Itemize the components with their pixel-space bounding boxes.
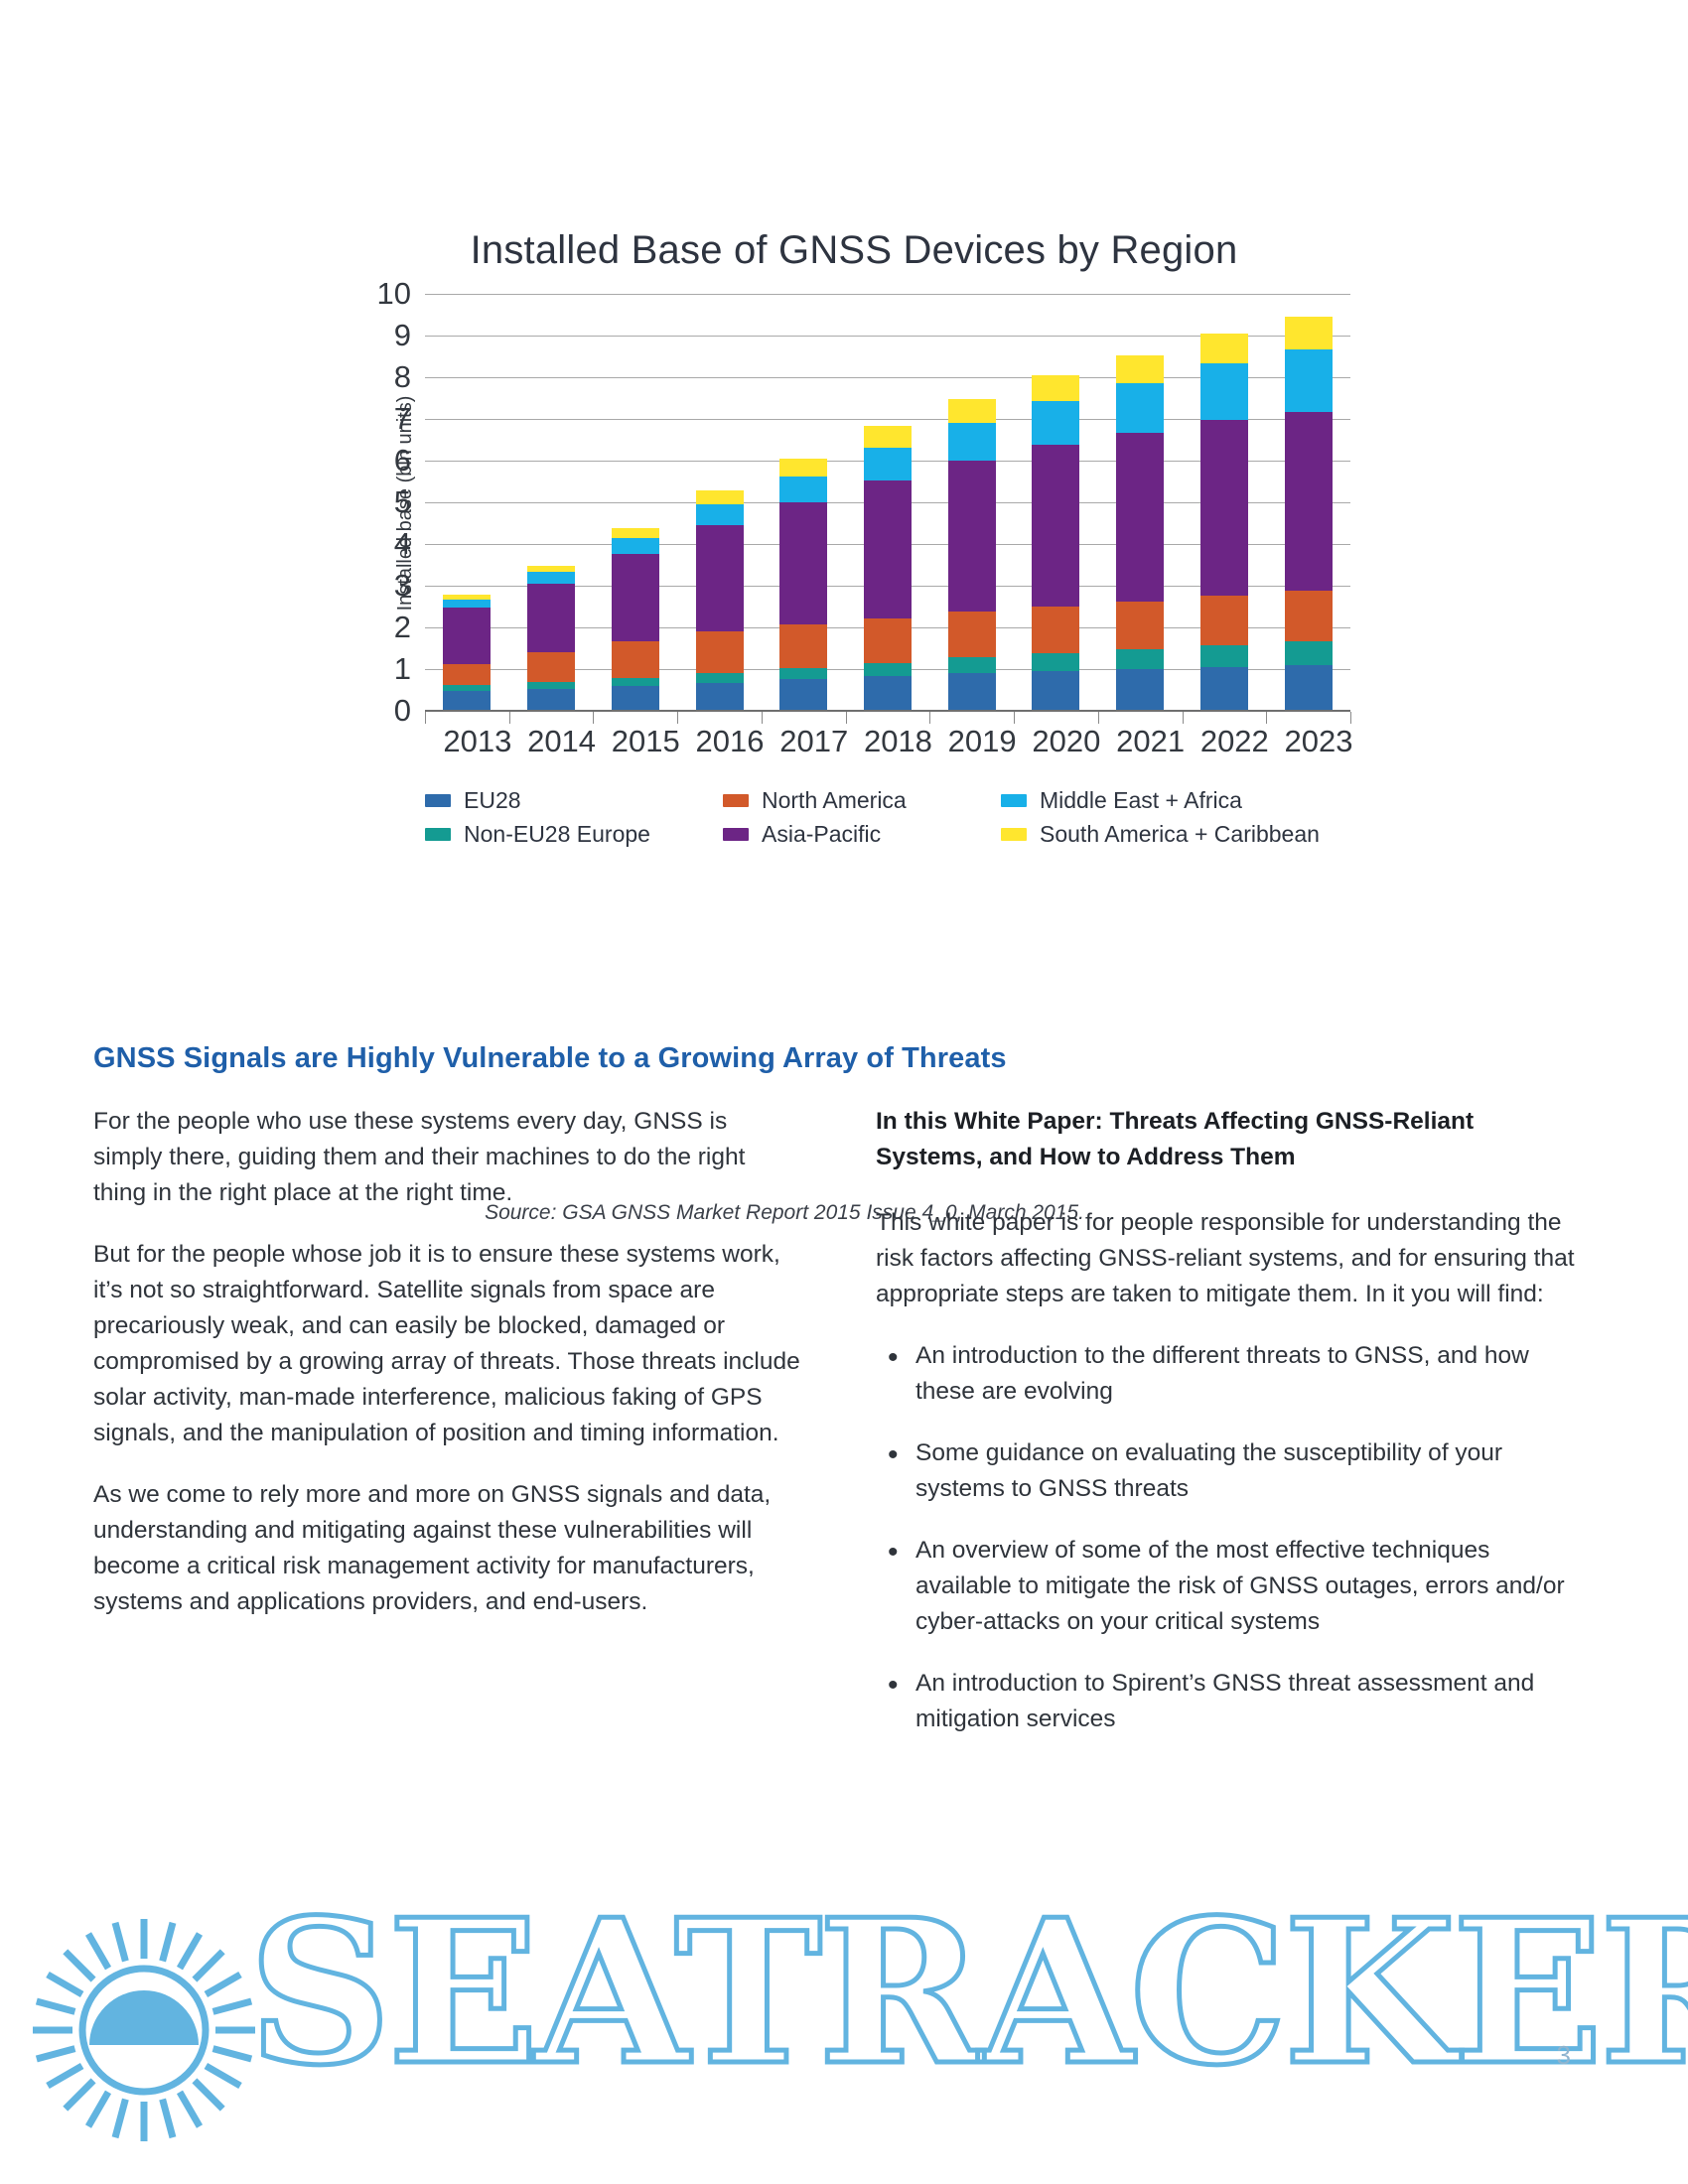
x-tickmark (762, 712, 763, 724)
bar-segment (1032, 375, 1079, 401)
section-heading: GNSS Signals are Highly Vulnerable to a … (93, 1042, 1007, 1075)
watermark-text: SEATRACKER.RU (248, 1894, 1688, 2093)
bar-segment (779, 502, 827, 624)
bar-segment (948, 612, 996, 657)
y-axis-tick-label: 2 (394, 610, 411, 645)
legend-item[interactable]: Asia-Pacific (723, 821, 1001, 848)
x-axis-tick-label: 2018 (864, 724, 912, 759)
bar-segment (612, 554, 659, 641)
legend-label: South America + Caribbean (1040, 821, 1320, 848)
bar-column (696, 490, 744, 712)
benefits-list: An introduction to the different threats… (876, 1338, 1583, 1737)
bar-segment (1200, 363, 1248, 420)
bar-segment (612, 678, 659, 686)
bar-column (527, 566, 575, 712)
right-column-subhead: In this White Paper: Threats Affecting G… (876, 1104, 1583, 1175)
bar-segment (612, 528, 659, 539)
x-axis-tick-label: 2015 (612, 724, 659, 759)
x-axis-tick-label: 2017 (779, 724, 827, 759)
x-tickmark (425, 712, 426, 724)
chart-legend: EU28North AmericaMiddle East + AfricaNon… (338, 783, 1350, 851)
x-tickmark (1266, 712, 1267, 724)
right-column: In this White Paper: Threats Affecting G… (876, 1104, 1583, 1763)
bar-segment (1032, 607, 1079, 653)
list-item: Some guidance on evaluating the suscepti… (876, 1435, 1583, 1507)
bar-segment (948, 423, 996, 461)
bar-segment (696, 504, 744, 525)
bar-segment (1200, 645, 1248, 667)
bar-segment (864, 426, 912, 448)
bar-segment (1032, 653, 1079, 671)
bar-segment (864, 676, 912, 712)
bar-segment (696, 631, 744, 673)
bar-segment (948, 673, 996, 712)
legend-swatch (723, 828, 749, 841)
bar-segment (864, 618, 912, 663)
right-column-intro: This white paper is for people responsib… (876, 1205, 1583, 1312)
x-axis-line (425, 710, 1350, 712)
bar-segment (864, 663, 912, 676)
y-axis-tick-label: 8 (394, 359, 411, 395)
bar-segment (948, 461, 996, 612)
bar-segment (696, 490, 744, 505)
chart-plot-area: Installed base (bln units) 012345678910 … (338, 295, 1350, 712)
bar-segment (1116, 433, 1164, 602)
legend-swatch (723, 794, 749, 807)
bar-column (864, 426, 912, 712)
y-axis-tick-label: 9 (394, 318, 411, 353)
bar-segment (612, 686, 659, 712)
bar-segment (696, 525, 744, 631)
legend-swatch (1001, 794, 1027, 807)
bar-segment (779, 477, 827, 502)
bar-segment (1285, 317, 1333, 349)
legend-label: Middle East + Africa (1040, 787, 1242, 814)
bar-segment (1200, 420, 1248, 596)
x-axis-tick-label: 2019 (948, 724, 996, 759)
bar-segment (1116, 669, 1164, 712)
bar-column (443, 595, 491, 712)
y-axis-tick-label: 3 (394, 568, 411, 604)
y-axis-tick-label: 7 (394, 401, 411, 437)
legend-item[interactable]: North America (723, 787, 1001, 814)
document-page: Installed Base of GNSS Devices by Region… (0, 0, 1688, 2184)
bar-segment (443, 600, 491, 608)
x-tickmark (1098, 712, 1099, 724)
bar-segment (1200, 334, 1248, 363)
bar-segment (1200, 596, 1248, 645)
watermark: SEATRACKER.RU (0, 1866, 1688, 2184)
list-item: An introduction to the different threats… (876, 1338, 1583, 1410)
y-axis-tick-label: 6 (394, 443, 411, 478)
bar-segment (527, 572, 575, 584)
x-tickmark (593, 712, 594, 724)
bar-segment (527, 652, 575, 681)
bar-segment (612, 641, 659, 678)
bar-segment (1032, 445, 1079, 607)
x-axis-tick-label: 2022 (1200, 724, 1248, 759)
legend-label: Non-EU28 Europe (464, 821, 650, 848)
bar-segment (1285, 591, 1333, 640)
bar-segment (1285, 641, 1333, 665)
x-tickmark (509, 712, 510, 724)
x-axis-tick-label: 2014 (527, 724, 575, 759)
legend-item[interactable]: South America + Caribbean (1001, 821, 1358, 848)
bar-segment (864, 480, 912, 618)
legend-swatch (1001, 828, 1027, 841)
x-tickmark (929, 712, 930, 724)
x-axis-tick-label: 2016 (696, 724, 744, 759)
bar-segment (1116, 383, 1164, 433)
bar-segment (443, 691, 491, 712)
y-axis-tick-label: 10 (377, 276, 411, 312)
list-item: An introduction to Spirent’s GNSS threat… (876, 1666, 1583, 1737)
bar-segment (948, 657, 996, 673)
body-paragraph: But for the people whose job it is to en… (93, 1237, 800, 1451)
bar-segment (779, 679, 827, 712)
bar-column (948, 399, 996, 712)
legend-item[interactable]: Non-EU28 Europe (425, 821, 723, 848)
bar-segment (527, 689, 575, 712)
x-axis-tick-labels: 2013201420152016201720182019202020212022… (425, 724, 1350, 759)
plot-canvas: 012345678910 (425, 295, 1350, 712)
x-axis-tick-label: 2013 (443, 724, 491, 759)
bar-segment (1285, 665, 1333, 712)
bar-segment (696, 673, 744, 682)
bar-segment (1032, 671, 1079, 712)
sunburst-icon (20, 1906, 268, 2154)
y-axis-tick-label: 0 (394, 693, 411, 729)
y-axis-tick-label: 4 (394, 526, 411, 562)
bar-segment (1032, 401, 1079, 445)
legend-item[interactable]: EU28 (425, 787, 723, 814)
bar-segment (696, 683, 744, 712)
bar-segment (1285, 349, 1333, 412)
bar-segment (527, 584, 575, 652)
bar-series-group (425, 295, 1350, 712)
bar-segment (1200, 667, 1248, 712)
chart-title: Installed Base of GNSS Devices by Region (20, 228, 1688, 273)
bar-column (612, 528, 659, 712)
x-axis-tick-label: 2020 (1032, 724, 1079, 759)
body-paragraph: As we come to rely more and more on GNSS… (93, 1477, 800, 1620)
body-paragraph: For the people who use these systems eve… (93, 1104, 800, 1211)
bar-segment (779, 459, 827, 477)
bar-column (1285, 317, 1333, 712)
bar-segment (1116, 602, 1164, 649)
bar-segment (1285, 412, 1333, 592)
bar-segment (864, 448, 912, 480)
x-tickmark (1183, 712, 1184, 724)
chart-figure: Installed Base of GNSS Devices by Region… (0, 228, 1688, 851)
bar-column (779, 459, 827, 712)
legend-label: Asia-Pacific (762, 821, 881, 848)
bar-column (1200, 334, 1248, 712)
bar-segment (1116, 649, 1164, 669)
legend-swatch (425, 828, 451, 841)
bar-segment (779, 668, 827, 679)
x-tickmark (677, 712, 678, 724)
x-tickmark (1350, 712, 1351, 724)
page-number: 3 (1557, 2040, 1571, 2071)
bar-segment (1116, 355, 1164, 384)
bar-segment (612, 538, 659, 554)
list-item: An overview of some of the most effectiv… (876, 1533, 1583, 1640)
x-tickmark (846, 712, 847, 724)
x-axis-tick-label: 2023 (1285, 724, 1333, 759)
bar-segment (527, 682, 575, 689)
left-column: For the people who use these systems eve… (93, 1104, 800, 1763)
legend-label: North America (762, 787, 907, 814)
bar-segment (443, 608, 491, 664)
bar-segment (779, 624, 827, 668)
x-axis-tick-label: 2021 (1116, 724, 1164, 759)
bar-segment (443, 664, 491, 685)
article-columns: For the people who use these systems eve… (93, 1104, 1583, 1763)
bar-column (1116, 355, 1164, 712)
bar-column (1032, 375, 1079, 712)
legend-swatch (425, 794, 451, 807)
legend-item[interactable]: Middle East + Africa (1001, 787, 1358, 814)
x-tickmark (1014, 712, 1015, 724)
legend-label: EU28 (464, 787, 521, 814)
y-axis-tick-label: 5 (394, 484, 411, 520)
bar-segment (948, 399, 996, 423)
y-axis-tick-label: 1 (394, 651, 411, 687)
